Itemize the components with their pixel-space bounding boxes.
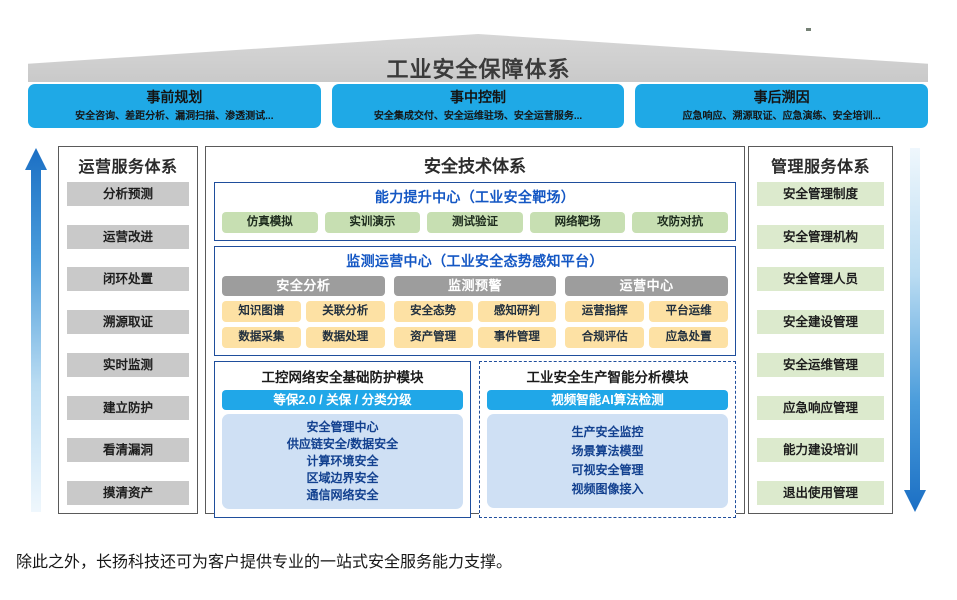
arrow-up-icon xyxy=(24,148,48,512)
scan-artifact-speck xyxy=(806,28,811,31)
side-item-right-6[interactable]: 应急响应管理 xyxy=(757,396,884,420)
capability-pill-1[interactable]: 仿真模拟 xyxy=(222,212,318,233)
mon-cell-alert-1[interactable]: 安全态势 xyxy=(394,301,473,322)
side-item-left-2[interactable]: 运营改进 xyxy=(67,225,189,249)
ics-module-line-3: 计算环境安全 xyxy=(306,453,378,470)
phase-banner-during-subtitle: 安全集成交付、安全运维驻场、安全运营服务... xyxy=(374,107,582,122)
phase-banner-pre[interactable]: 事前规划 安全咨询、差距分析、漏洞扫描、渗透测试... xyxy=(28,84,321,128)
capability-pill-2[interactable]: 实训演示 xyxy=(325,212,421,233)
side-item-right-4[interactable]: 安全建设管理 xyxy=(757,310,884,334)
ics-module-body: 安全管理中心 供应链安全/数据安全 计算环境安全 区域边界安全 通信网络安全 xyxy=(222,414,463,509)
monitoring-column-alert: 监测预警 安全态势 感知研判 资产管理 事件管理 xyxy=(394,276,557,348)
mon-cell-operations-4[interactable]: 应急处置 xyxy=(649,327,728,348)
side-item-left-1[interactable]: 分析预测 xyxy=(67,182,189,206)
side-item-left-6[interactable]: 建立防护 xyxy=(67,396,189,420)
management-service-list: 安全管理制度 安全管理机构 安全管理人员 安全建设管理 安全运维管理 应急响应管… xyxy=(757,182,884,505)
monitoring-center-columns: 安全分析 知识图谱 关联分析 数据采集 数据处理 监测预警 安全态势 感知研判 … xyxy=(222,276,728,348)
capability-pill-5[interactable]: 攻防对抗 xyxy=(632,212,728,233)
diagram-root: 工业安全保障体系 事前规划 安全咨询、差距分析、漏洞扫描、渗透测试... 事中控… xyxy=(0,0,957,600)
ai-module-line-2: 场景算法模型 xyxy=(571,442,643,461)
mon-cell-operations-3[interactable]: 合规评估 xyxy=(565,327,644,348)
operations-service-panel: 运营服务体系 分析预测 运营改进 闭环处置 溯源取证 实时监测 建立防护 看清漏… xyxy=(58,146,198,514)
monitoring-column-operations-grid: 运营指挥 平台运维 合规评估 应急处置 xyxy=(565,301,728,348)
mon-cell-analysis-3[interactable]: 数据采集 xyxy=(222,327,301,348)
roof-title: 工业安全保障体系 xyxy=(0,52,957,84)
caption-text: 除此之外，长扬科技还可为客户提供专业的一站式安全服务能力支撑。 xyxy=(16,548,512,572)
ai-module-band: 视频智能AI算法检测 xyxy=(487,390,728,410)
side-item-right-1[interactable]: 安全管理制度 xyxy=(757,182,884,206)
capability-center-heading: 能力提升中心（工业安全靶场） xyxy=(222,187,728,207)
side-item-left-7[interactable]: 看清漏洞 xyxy=(67,438,189,462)
monitoring-column-analysis-head: 安全分析 xyxy=(222,276,385,296)
mon-cell-operations-1[interactable]: 运营指挥 xyxy=(565,301,644,322)
ics-module-line-4: 区域边界安全 xyxy=(306,470,378,487)
security-tech-system-title: 安全技术体系 xyxy=(214,152,736,177)
monitoring-column-alert-grid: 安全态势 感知研判 资产管理 事件管理 xyxy=(394,301,557,348)
mon-cell-alert-4[interactable]: 事件管理 xyxy=(478,327,557,348)
mon-cell-alert-2[interactable]: 感知研判 xyxy=(478,301,557,322)
industrial-safety-ai-module: 工业安全生产智能分析模块 视频智能AI算法检测 生产安全监控 场景算法模型 可视… xyxy=(479,361,736,518)
security-tech-system-panel: 安全技术体系 能力提升中心（工业安全靶场） 仿真模拟 实训演示 测试验证 网络靶… xyxy=(205,146,745,514)
capability-center-box: 能力提升中心（工业安全靶场） 仿真模拟 实训演示 测试验证 网络靶场 攻防对抗 xyxy=(214,182,736,241)
ics-network-security-module: 工控网络安全基础防护模块 等保2.0 / 关保 / 分类分级 安全管理中心 供应… xyxy=(214,361,471,518)
monitoring-column-analysis: 安全分析 知识图谱 关联分析 数据采集 数据处理 xyxy=(222,276,385,348)
phase-banner-row: 事前规划 安全咨询、差距分析、漏洞扫描、渗透测试... 事中控制 安全集成交付、… xyxy=(28,84,928,128)
side-item-right-3[interactable]: 安全管理人员 xyxy=(757,267,884,291)
ics-module-band: 等保2.0 / 关保 / 分类分级 xyxy=(222,390,463,410)
management-service-title: 管理服务体系 xyxy=(757,153,884,177)
mon-cell-analysis-1[interactable]: 知识图谱 xyxy=(222,301,301,322)
ics-module-line-5: 通信网络安全 xyxy=(306,487,378,504)
side-item-left-4[interactable]: 溯源取证 xyxy=(67,310,189,334)
ics-module-line-2: 供应链安全/数据安全 xyxy=(287,436,398,453)
side-item-right-7[interactable]: 能力建设培训 xyxy=(757,438,884,462)
monitoring-center-box: 监测运营中心（工业安全态势感知平台） 安全分析 知识图谱 关联分析 数据采集 数… xyxy=(214,246,736,356)
side-item-left-5[interactable]: 实时监测 xyxy=(67,353,189,377)
side-item-right-5[interactable]: 安全运维管理 xyxy=(757,353,884,377)
management-service-panel: 管理服务体系 安全管理制度 安全管理机构 安全管理人员 安全建设管理 安全运维管… xyxy=(748,146,893,514)
ai-module-line-3: 可视安全管理 xyxy=(571,461,643,480)
bottom-module-row: 工控网络安全基础防护模块 等保2.0 / 关保 / 分类分级 安全管理中心 供应… xyxy=(214,361,736,518)
capability-center-pill-row: 仿真模拟 实训演示 测试验证 网络靶场 攻防对抗 xyxy=(222,212,728,233)
operations-service-title: 运营服务体系 xyxy=(67,153,189,177)
ai-module-line-1: 生产安全监控 xyxy=(571,423,643,442)
phase-banner-post-title: 事后溯因 xyxy=(754,90,810,105)
monitoring-column-operations: 运营中心 运营指挥 平台运维 合规评估 应急处置 xyxy=(565,276,728,348)
ai-module-line-4: 视频图像接入 xyxy=(571,480,643,499)
mon-cell-alert-3[interactable]: 资产管理 xyxy=(394,327,473,348)
arrow-down-icon xyxy=(903,148,927,512)
ics-module-line-1: 安全管理中心 xyxy=(306,419,378,436)
phase-banner-pre-title: 事前规划 xyxy=(146,90,202,105)
capability-pill-4[interactable]: 网络靶场 xyxy=(530,212,626,233)
capability-pill-3[interactable]: 测试验证 xyxy=(427,212,523,233)
monitoring-column-analysis-grid: 知识图谱 关联分析 数据采集 数据处理 xyxy=(222,301,385,348)
phase-banner-during[interactable]: 事中控制 安全集成交付、安全运维驻场、安全运营服务... xyxy=(332,84,625,128)
monitoring-column-operations-head: 运营中心 xyxy=(565,276,728,296)
operations-service-list: 分析预测 运营改进 闭环处置 溯源取证 实时监测 建立防护 看清漏洞 摸清资产 xyxy=(67,182,189,505)
ics-module-title: 工控网络安全基础防护模块 xyxy=(222,366,463,386)
phase-banner-pre-subtitle: 安全咨询、差距分析、漏洞扫描、渗透测试... xyxy=(75,107,273,122)
side-item-left-3[interactable]: 闭环处置 xyxy=(67,267,189,291)
phase-banner-post[interactable]: 事后溯因 应急响应、溯源取证、应急演练、安全培训... xyxy=(635,84,928,128)
mon-cell-analysis-4[interactable]: 数据处理 xyxy=(306,327,385,348)
ai-module-title: 工业安全生产智能分析模块 xyxy=(487,366,728,386)
monitoring-center-heading: 监测运营中心（工业安全态势感知平台） xyxy=(222,251,728,271)
phase-banner-during-title: 事中控制 xyxy=(450,90,506,105)
side-item-right-2[interactable]: 安全管理机构 xyxy=(757,225,884,249)
side-item-left-8[interactable]: 摸清资产 xyxy=(67,481,189,505)
phase-banner-post-subtitle: 应急响应、溯源取证、应急演练、安全培训... xyxy=(683,107,881,122)
ai-module-body: 生产安全监控 场景算法模型 可视安全管理 视频图像接入 xyxy=(487,414,728,508)
monitoring-column-alert-head: 监测预警 xyxy=(394,276,557,296)
mon-cell-operations-2[interactable]: 平台运维 xyxy=(649,301,728,322)
side-item-right-8[interactable]: 退出使用管理 xyxy=(757,481,884,505)
mon-cell-analysis-2[interactable]: 关联分析 xyxy=(306,301,385,322)
